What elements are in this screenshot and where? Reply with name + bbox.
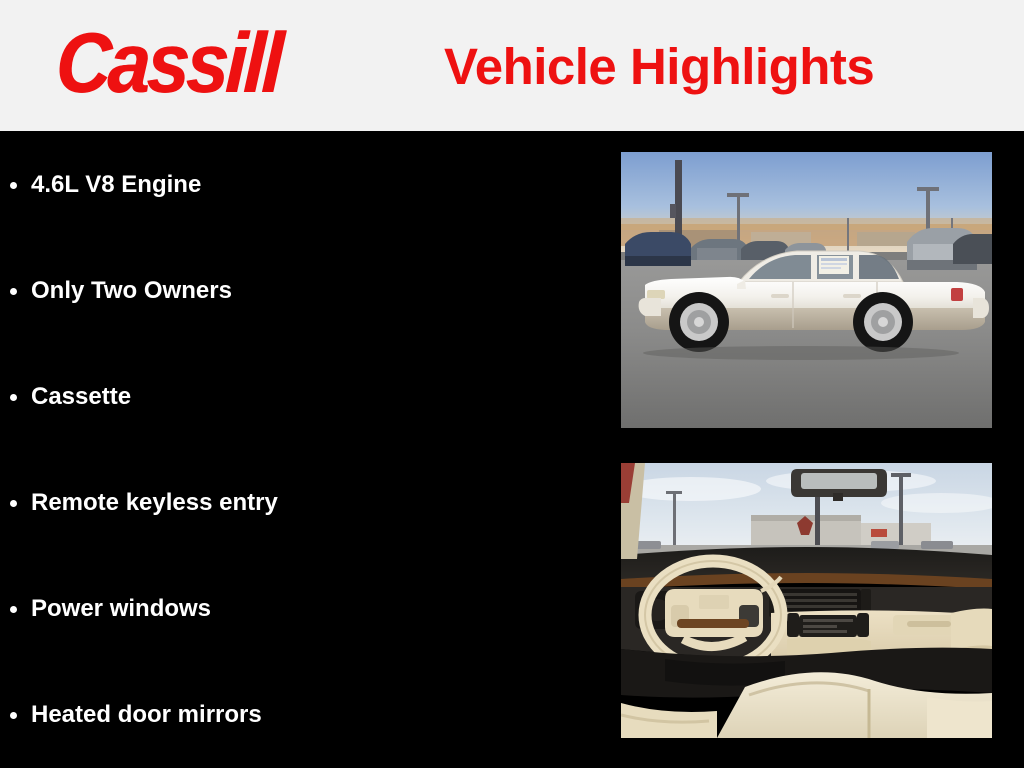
list-item: 4.6L V8 Engine xyxy=(10,168,201,202)
bullet-icon xyxy=(10,394,17,401)
vehicle-highlights-slide: Cassill Vehicle Highlights 4.6L V8 Engin… xyxy=(0,0,1024,768)
list-item: Cassette xyxy=(10,380,131,414)
bullet-icon xyxy=(10,606,17,613)
vehicle-interior-photo xyxy=(621,463,992,738)
vehicle-exterior-illustration xyxy=(621,152,992,428)
highlight-label: Cassette xyxy=(31,383,131,411)
highlight-label: 4.6L V8 Engine xyxy=(31,171,201,199)
bullet-icon xyxy=(10,182,17,189)
vehicle-highlights-list: 4.6L V8 Engine Only Two Owners Cassette … xyxy=(0,131,600,768)
highlight-label: Only Two Owners xyxy=(31,277,232,305)
bullet-icon xyxy=(10,500,17,507)
bullet-icon xyxy=(10,288,17,295)
page-title: Vehicle Highlights xyxy=(444,28,1000,104)
vehicle-exterior-photo xyxy=(621,152,992,428)
slide-header: Cassill Vehicle Highlights xyxy=(0,0,1024,131)
highlight-label: Power windows xyxy=(31,595,211,623)
list-item: Only Two Owners xyxy=(10,274,232,308)
bullet-icon xyxy=(10,712,17,719)
list-item: Heated door mirrors xyxy=(10,698,262,732)
cassill-logo-text: Cassill xyxy=(54,21,282,106)
list-item: Power windows xyxy=(10,592,211,626)
highlight-label: Remote keyless entry xyxy=(31,489,278,517)
vehicle-interior-illustration xyxy=(621,463,992,738)
list-item: Remote keyless entry xyxy=(10,486,278,520)
highlight-label: Heated door mirrors xyxy=(31,701,262,729)
cassill-logo: Cassill xyxy=(56,18,352,110)
